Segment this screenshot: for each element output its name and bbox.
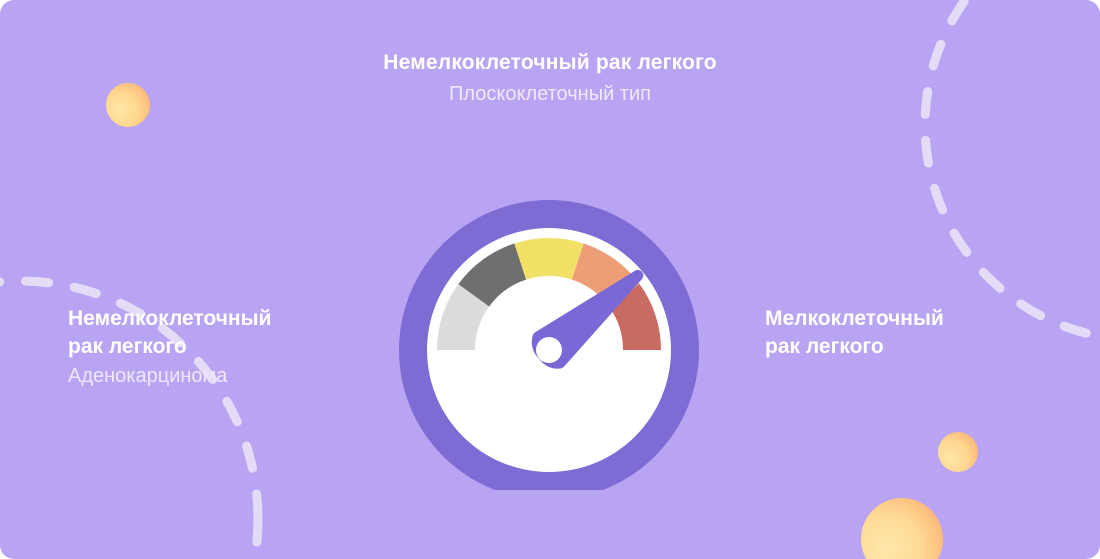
dashed-arc-bottom-left-icon — [0, 239, 330, 559]
gauge-needle-hub — [536, 337, 562, 363]
segment-yellow — [514, 238, 583, 280]
label-right: Мелкоклеточный рак легкого — [765, 305, 944, 360]
gauge-widget — [399, 170, 699, 490]
label-left: Немелкоклеточный рак легкого Аденокарцин… — [68, 305, 271, 390]
poster-canvas: Немелкоклеточный рак легкого Плоскоклето… — [0, 0, 1100, 559]
label-left-subtitle: Аденокарцинома — [68, 363, 271, 389]
page-title: Немелкоклеточный рак легкого — [0, 50, 1100, 76]
decor-dot-bottom-right-large — [861, 498, 943, 559]
label-left-title-line1: Немелкоклеточный — [68, 305, 271, 333]
page-subtitle: Плоскоклеточный тип — [0, 81, 1100, 107]
decor-dot-bottom-right-small — [938, 432, 978, 472]
label-right-title-line1: Мелкоклеточный — [765, 305, 944, 333]
gauge-icon — [399, 170, 699, 490]
header-block: Немелкоклеточный рак легкого Плоскоклето… — [0, 50, 1100, 107]
label-right-title-line2: рак легкого — [765, 333, 944, 361]
label-left-title-line2: рак легкого — [68, 333, 271, 361]
